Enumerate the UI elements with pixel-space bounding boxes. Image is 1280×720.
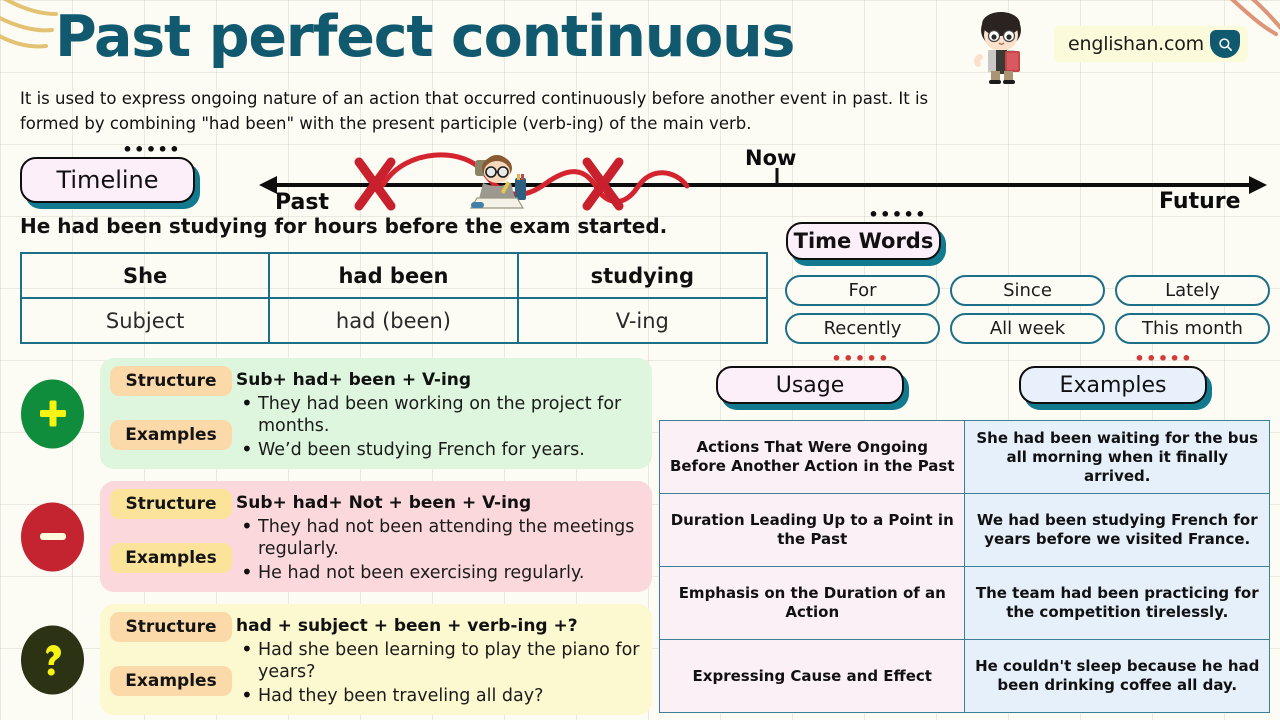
examples-badge: ••••• Examples xyxy=(1019,366,1207,404)
decorative-dots: ••••• xyxy=(1134,355,1193,363)
table-row: Duration Leading Up to a Point in the Pa… xyxy=(660,494,1270,567)
mascot-studying-illustration xyxy=(455,152,537,214)
examples-label: Examples xyxy=(110,543,232,573)
formula-header-subject: She xyxy=(21,253,269,298)
time-words-grid: For Since Lately Recently All week This … xyxy=(785,275,1270,344)
list-item: Had they been traveling all day? xyxy=(236,685,642,707)
site-badge-label: englishan.com xyxy=(1068,33,1204,55)
examples-badge-label: Examples xyxy=(1060,373,1167,398)
structure-label: Structure xyxy=(110,612,232,642)
formula-sub-verb: V-ing xyxy=(518,298,767,343)
page-header: Past perfect continuous englishan.com xyxy=(0,0,1280,84)
timeline-label-past: Past xyxy=(275,190,329,215)
form-block-negative: Structure Examples Sub+ had+ Not + been … xyxy=(100,481,652,592)
intro-line-2: formed by combining "had been" with the … xyxy=(20,111,1260,136)
table-row: Subject had (been) V-ing xyxy=(21,298,767,343)
decorative-dots: ••••• xyxy=(868,211,927,219)
formula-header-verb: studying xyxy=(518,253,767,298)
search-icon[interactable] xyxy=(1210,30,1240,58)
intro-paragraph: It is used to express ongoing nature of … xyxy=(20,86,1260,136)
usage-cell: Emphasis on the Duration of an Action xyxy=(660,567,965,640)
usage-cell: Actions That Were Ongoing Before Another… xyxy=(660,421,965,494)
site-badge[interactable]: englishan.com xyxy=(1054,26,1248,62)
formula-sub-subject: Subject xyxy=(21,298,269,343)
examples-label: Examples xyxy=(110,420,232,450)
form-block-question: Structure Examples had + subject + been … xyxy=(100,604,652,715)
formula-sub-auxiliary: had (been) xyxy=(269,298,517,343)
usage-cell: Expressing Cause and Effect xyxy=(660,640,965,713)
time-word-chip[interactable]: All week xyxy=(950,313,1105,344)
usage-badge: ••••• Usage xyxy=(716,366,904,404)
list-item: We’d been studying French for years. xyxy=(236,439,642,461)
list-item: They had not been attending the meetings… xyxy=(236,516,642,560)
minus-icon xyxy=(21,502,84,571)
time-word-chip[interactable]: For xyxy=(785,275,940,306)
list-item: He had not been exercising regularly. xyxy=(236,562,642,584)
time-word-chip[interactable]: Recently xyxy=(785,313,940,344)
structure-label: Structure xyxy=(110,366,232,396)
structure-formula: Sub+ had+ been + V-ing xyxy=(236,370,642,390)
usage-cell: Duration Leading Up to a Point in the Pa… xyxy=(660,494,965,567)
examples-label: Examples xyxy=(110,666,232,696)
timeline-example-sentence: He had been studying for hours before th… xyxy=(20,214,667,238)
table-row: Emphasis on the Duration of an Action Th… xyxy=(660,567,1270,640)
time-word-chip[interactable]: This month xyxy=(1115,313,1270,344)
plus-icon xyxy=(21,379,84,448)
usage-badge-label: Usage xyxy=(776,373,845,398)
table-row: She had been studying xyxy=(21,253,767,298)
decorative-dots: ••••• xyxy=(831,355,890,363)
formula-header-auxiliary: had been xyxy=(269,253,517,298)
structure-formula: Sub+ had+ Not + been + V-ing xyxy=(236,493,642,513)
examples-list: Had she been learning to play the piano … xyxy=(236,639,642,707)
list-item: Had she been learning to play the piano … xyxy=(236,639,642,683)
mascot-boy-illustration xyxy=(968,10,1040,84)
form-block-positive: Structure Examples Sub+ had+ been + V-in… xyxy=(100,358,652,469)
decorative-dots: ••••• xyxy=(122,146,181,154)
table-row: Expressing Cause and Effect He couldn't … xyxy=(660,640,1270,713)
time-word-chip[interactable]: Lately xyxy=(1115,275,1270,306)
usage-examples-table: Actions That Were Ongoing Before Another… xyxy=(659,420,1270,713)
examples-list: They had not been attending the meetings… xyxy=(236,516,642,584)
examples-list: They had been working on the project for… xyxy=(236,393,642,461)
list-item: They had been working on the project for… xyxy=(236,393,642,437)
timeline-label-future: Future xyxy=(1159,189,1241,214)
timeline-badge-label: Timeline xyxy=(56,166,158,194)
example-cell: We had been studying French for years be… xyxy=(965,494,1270,567)
example-cell: She had been waiting for the bus all mor… xyxy=(965,421,1270,494)
intro-line-1: It is used to express ongoing nature of … xyxy=(20,86,1260,111)
time-words-badge-label: Time Words xyxy=(794,229,934,253)
structure-formula: had + subject + been + verb-ing +? xyxy=(236,616,642,636)
timeline-label-now: Now xyxy=(745,146,796,170)
page-title: Past perfect continuous xyxy=(55,4,794,70)
structure-label: Structure xyxy=(110,489,232,519)
question-mark-icon xyxy=(21,625,84,694)
timeline-badge: ••••• Timeline xyxy=(20,157,195,203)
time-words-badge: ••••• Time Words xyxy=(786,222,941,260)
time-word-chip[interactable]: Since xyxy=(950,275,1105,306)
example-cell: He couldn't sleep because he had been dr… xyxy=(965,640,1270,713)
example-cell: The team had been practicing for the com… xyxy=(965,567,1270,640)
formula-table: She had been studying Subject had (been)… xyxy=(20,252,768,344)
table-row: Actions That Were Ongoing Before Another… xyxy=(660,421,1270,494)
